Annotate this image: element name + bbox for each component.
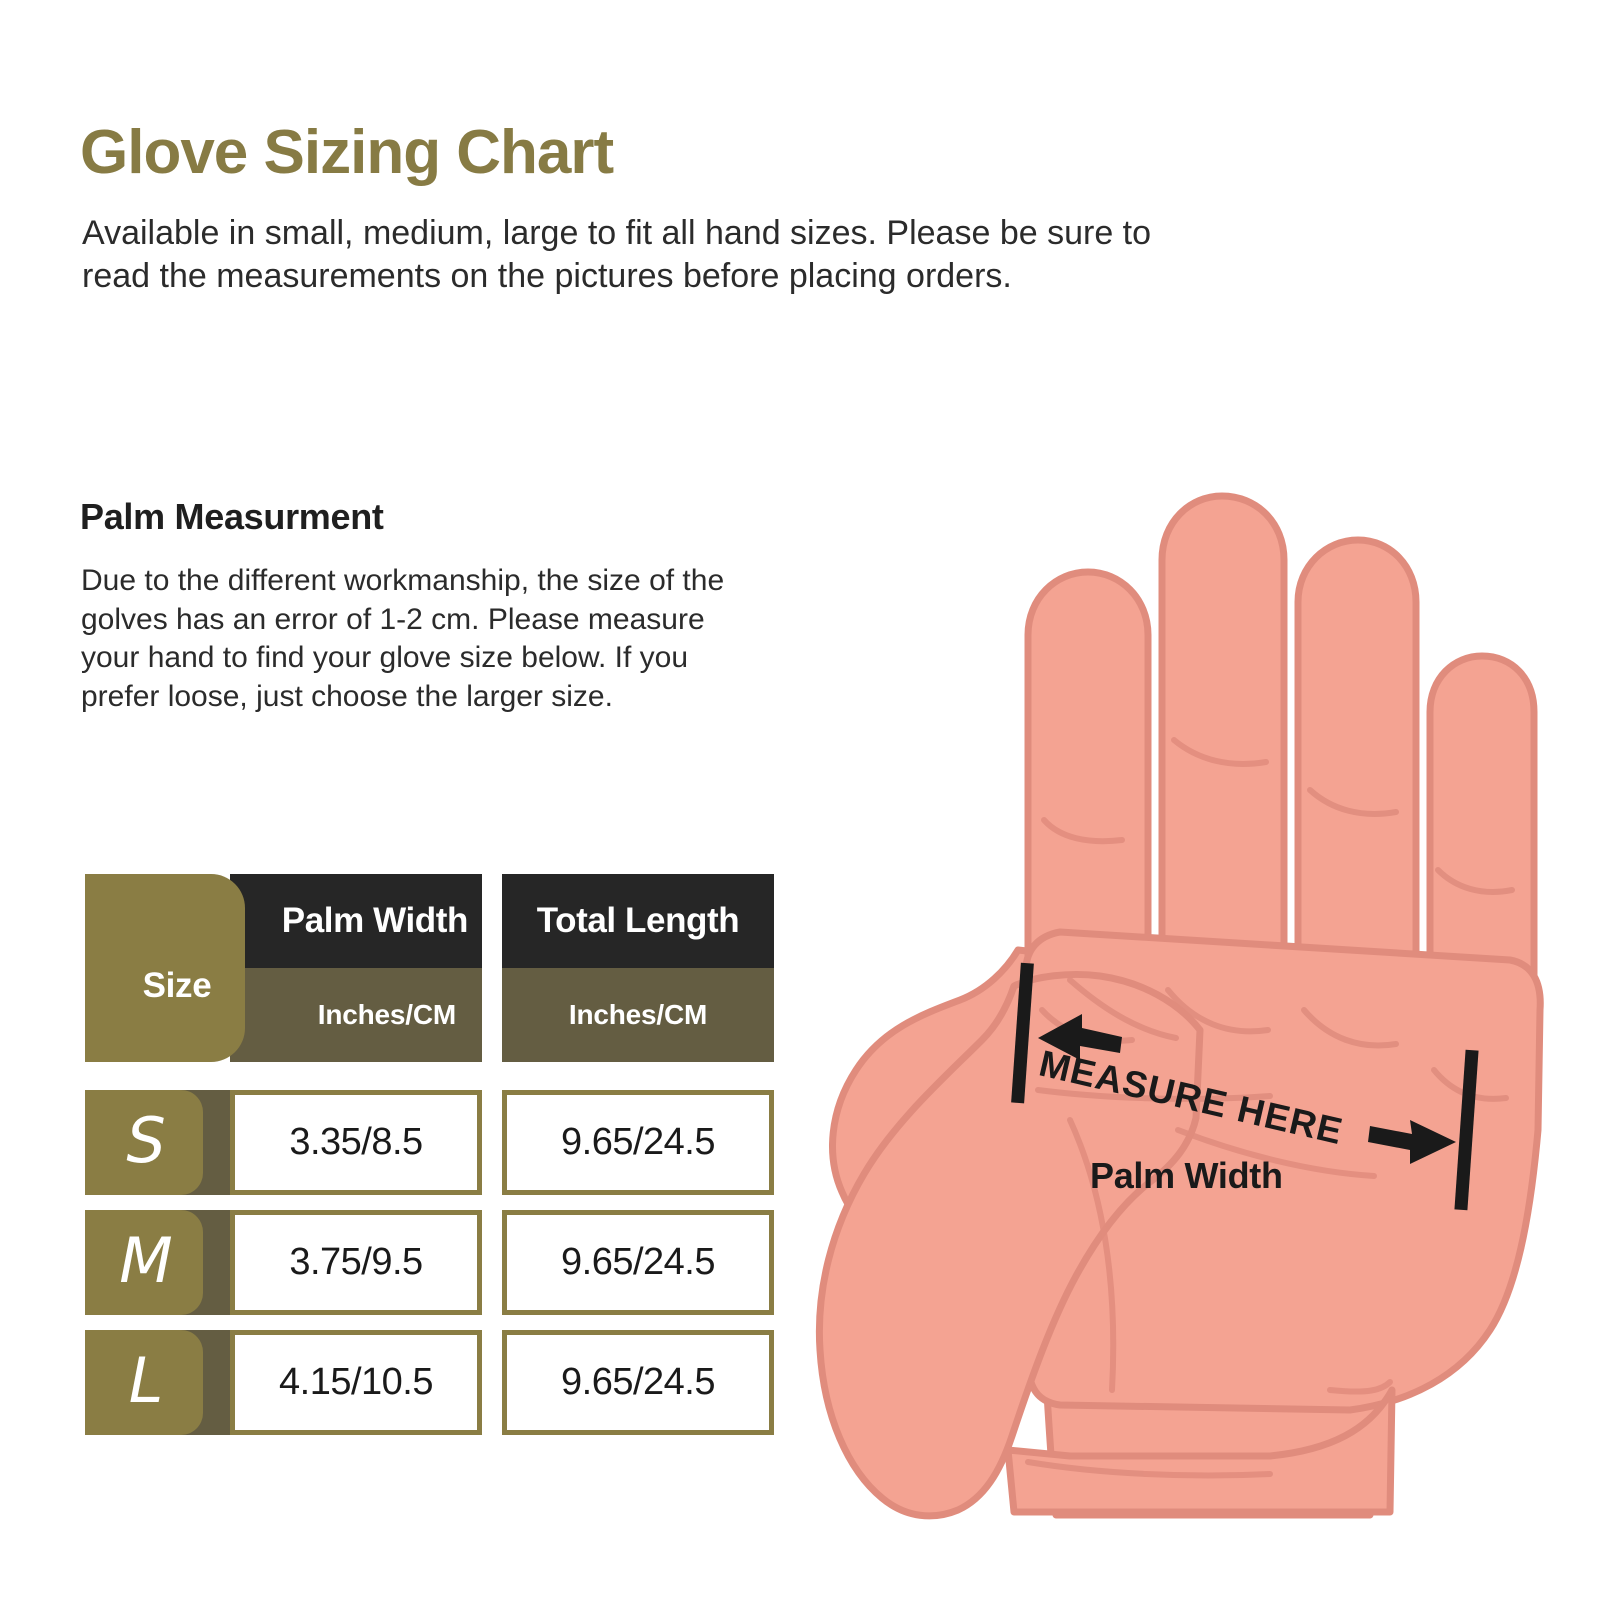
palm-width-value: 3.35/8.5 — [289, 1121, 422, 1164]
table-header-size: Size — [85, 874, 245, 1062]
total-length-cell: 9.65/24.5 — [502, 1090, 774, 1195]
palm-measurement-body: Due to the different workmanship, the si… — [81, 562, 731, 717]
page-subtitle: Available in small, medium, large to fit… — [82, 212, 1202, 298]
palm-width-value: 4.15/10.5 — [279, 1361, 433, 1404]
table-header-total-length-title: Total Length — [502, 874, 774, 968]
table-header-palm-width-label: Palm Width — [282, 901, 468, 941]
table-header-total-length-units-label: Inches/CM — [569, 999, 707, 1031]
size-cell: S — [85, 1090, 203, 1195]
palm-width-cell: 3.35/8.5 — [230, 1090, 482, 1195]
palm-width-cell: 4.15/10.5 — [230, 1330, 482, 1435]
hand-illustration — [770, 430, 1580, 1540]
table-header-palm-width-units: Inches/CM — [230, 968, 482, 1062]
table-header-total-length: Total Length Inches/CM — [502, 874, 774, 1062]
sizing-table: Palm Width Inches/CM Total Length Inches… — [80, 872, 780, 1432]
palm-measurement-heading: Palm Measurment — [80, 496, 384, 538]
total-length-value: 9.65/24.5 — [561, 1121, 715, 1164]
size-label: S — [126, 1110, 165, 1172]
table-header-total-length-label: Total Length — [537, 901, 740, 941]
total-length-value: 9.65/24.5 — [561, 1241, 715, 1284]
total-length-cell: 9.65/24.5 — [502, 1330, 774, 1435]
size-cell: L — [85, 1330, 203, 1435]
size-label: M — [119, 1230, 173, 1292]
table-row: S 3.35/8.5 9.65/24.5 — [80, 1090, 780, 1195]
table-header-size-label: Size — [143, 966, 212, 1006]
table-header-palm-width: Palm Width Inches/CM — [230, 874, 482, 1062]
page-title: Glove Sizing Chart — [80, 122, 613, 184]
table-row: M 3.75/9.5 9.65/24.5 — [80, 1210, 780, 1315]
glove-sizing-chart-page: Glove Sizing Chart Available in small, m… — [0, 0, 1600, 1600]
total-length-value: 9.65/24.5 — [561, 1361, 715, 1404]
table-header-palm-width-title: Palm Width — [230, 874, 482, 968]
table-row: L 4.15/10.5 9.65/24.5 — [80, 1330, 780, 1435]
total-length-cell: 9.65/24.5 — [502, 1210, 774, 1315]
size-label: L — [129, 1350, 164, 1412]
size-cell: M — [85, 1210, 203, 1315]
table-header-total-length-units: Inches/CM — [502, 968, 774, 1062]
palm-width-value: 3.75/9.5 — [289, 1241, 422, 1284]
table-header-palm-width-units-label: Inches/CM — [318, 999, 456, 1031]
palm-width-cell: 3.75/9.5 — [230, 1210, 482, 1315]
palm-width-annotation: Palm Width — [1090, 1155, 1283, 1197]
hand-svg — [770, 430, 1580, 1540]
